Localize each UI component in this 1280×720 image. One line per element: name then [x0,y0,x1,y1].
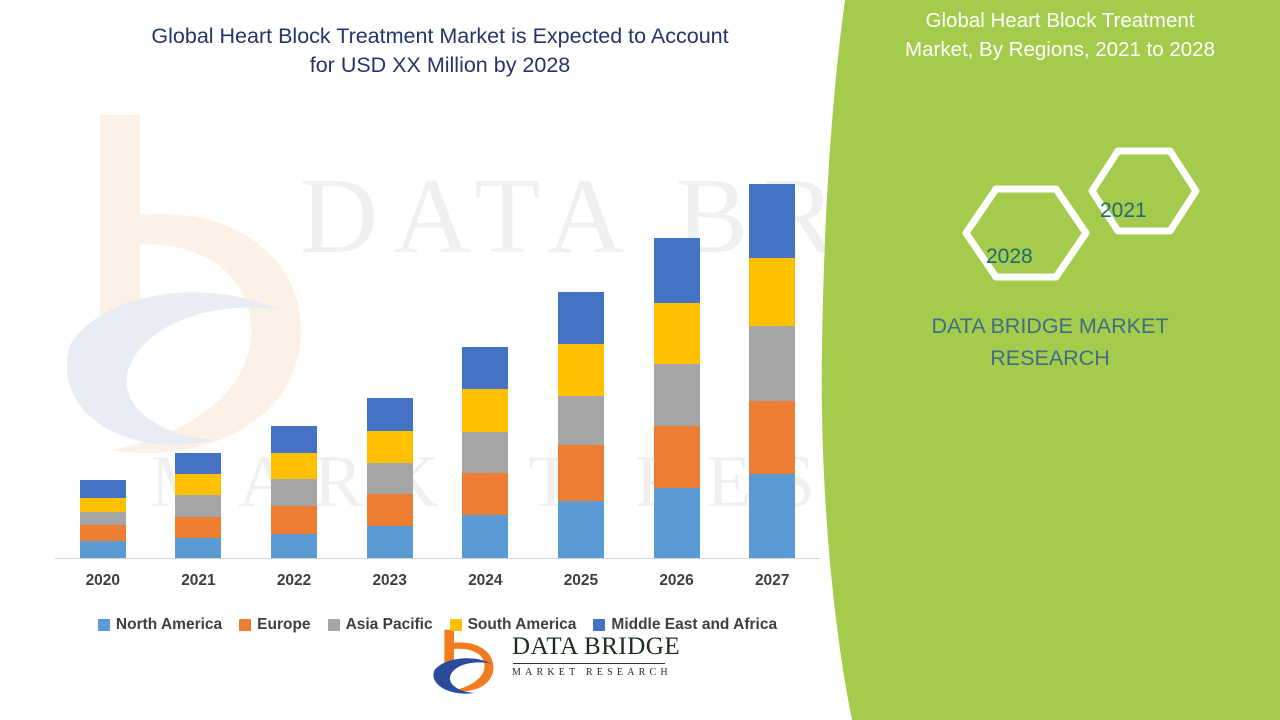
bar-segment[interactable] [654,238,700,303]
bar-segment[interactable] [462,347,508,389]
bar-segment[interactable] [80,512,126,525]
stacked-bar[interactable] [367,398,413,558]
bar-segment[interactable] [175,474,221,495]
bar-slot [438,120,534,558]
bar-segment[interactable] [749,474,795,558]
legend-label: Asia Pacific [346,616,433,634]
bar-segment[interactable] [749,258,795,326]
bar-segment[interactable] [175,517,221,538]
bar-segment[interactable] [80,480,126,498]
bar-segment[interactable] [271,453,317,479]
legend-item[interactable]: North America [98,616,222,634]
panel-title: Global Heart Block Treatment Market, By … [860,6,1260,64]
legend-label: Middle East and Africa [611,616,777,634]
panel-title-line-2: Market, By Regions, 2021 to 2028 [905,38,1215,61]
x-axis-label: 2024 [438,572,534,596]
hexagon-label-2028: 2028 [986,245,1033,269]
legend-item[interactable]: South America [450,616,577,634]
x-axis-label: 2025 [533,572,629,596]
bar-group [55,120,820,558]
bar-segment[interactable] [271,426,317,453]
bar-segment[interactable] [367,463,413,494]
x-axis-line [55,558,820,559]
brand-name: DATA BRIDGE MARKET RESEARCH [850,310,1250,375]
bar-segment[interactable] [367,398,413,431]
stacked-bar[interactable] [558,292,604,558]
x-axis-label: 2022 [246,572,342,596]
bar-slot [629,120,725,558]
bar-segment[interactable] [462,389,508,432]
bar-segment[interactable] [558,396,604,445]
chart-title: Global Heart Block Treatment Market is E… [60,22,820,80]
bar-segment[interactable] [271,479,317,506]
bar-segment[interactable] [175,453,221,474]
bar-slot [55,120,151,558]
hexagon-group: 2028 2021 [930,145,1270,305]
legend-item[interactable]: Asia Pacific [328,616,433,634]
bar-slot [151,120,247,558]
chart-title-line-2: for USD XX Million by 2028 [310,53,571,77]
bar-segment[interactable] [175,538,221,558]
x-axis-label: 2027 [724,572,820,596]
stacked-bar[interactable] [271,426,317,558]
legend-swatch-icon [593,619,605,631]
bar-slot [342,120,438,558]
stacked-bar[interactable] [654,238,700,558]
bar-segment[interactable] [558,445,604,501]
hexagon-label-2021: 2021 [1100,199,1147,223]
slide-canvas: DATA BRIDGE MARKET RESEARCH Global Heart… [0,0,1280,720]
legend-swatch-icon [450,619,462,631]
legend-item[interactable]: Middle East and Africa [593,616,777,634]
bar-segment[interactable] [462,432,508,473]
bar-segment[interactable] [462,515,508,558]
bar-segment[interactable] [654,364,700,426]
bar-slot [533,120,629,558]
bar-segment[interactable] [558,344,604,396]
bar-slot [724,120,820,558]
x-axis-label: 2020 [55,572,151,596]
brand-panel: Global Heart Block Treatment Market, By … [820,0,1280,720]
bar-segment[interactable] [749,326,795,401]
legend-label: South America [468,616,577,634]
legend-swatch-icon [98,619,110,631]
bar-segment[interactable] [654,426,700,488]
bar-segment[interactable] [271,534,317,558]
bar-segment[interactable] [558,292,604,344]
bar-segment[interactable] [654,488,700,558]
bar-segment[interactable] [80,541,126,558]
stacked-bar[interactable] [462,347,508,558]
legend-swatch-icon [328,619,340,631]
brand-name-line-2: RESEARCH [990,346,1109,370]
bar-segment[interactable] [749,401,795,474]
bar-segment[interactable] [367,526,413,558]
panel-title-line-1: Global Heart Block Treatment [926,9,1195,32]
legend-label: Europe [257,616,310,634]
brand-name-line-1: DATA BRIDGE MARKET [932,314,1169,338]
stacked-bar[interactable] [80,480,126,558]
x-axis-label: 2021 [151,572,247,596]
x-axis-label: 2026 [629,572,725,596]
bar-segment[interactable] [654,303,700,364]
brand-panel-content: Global Heart Block Treatment Market, By … [820,0,1280,720]
legend-swatch-icon [239,619,251,631]
bar-segment[interactable] [367,494,413,526]
chart-title-line-1: Global Heart Block Treatment Market is E… [151,24,728,48]
bar-segment[interactable] [558,501,604,558]
x-axis-label: 2023 [342,572,438,596]
stacked-bar[interactable] [175,453,221,558]
legend-label: North America [116,616,222,634]
bar-segment[interactable] [271,506,317,534]
chart-legend: North AmericaEuropeAsia PacificSouth Ame… [55,616,820,634]
legend-item[interactable]: Europe [239,616,310,634]
bar-segment[interactable] [749,184,795,258]
bar-slot [246,120,342,558]
hexagon-outlines-icon [930,145,1270,305]
bar-segment[interactable] [80,525,126,541]
bar-segment[interactable] [80,498,126,512]
chart-panel: Global Heart Block Treatment Market is E… [0,0,880,720]
x-axis-labels: 20202021202220232024202520262027 [55,572,820,596]
bar-segment[interactable] [462,473,508,515]
stacked-bar[interactable] [749,184,795,558]
bar-segment[interactable] [175,495,221,517]
bar-segment[interactable] [367,431,413,463]
